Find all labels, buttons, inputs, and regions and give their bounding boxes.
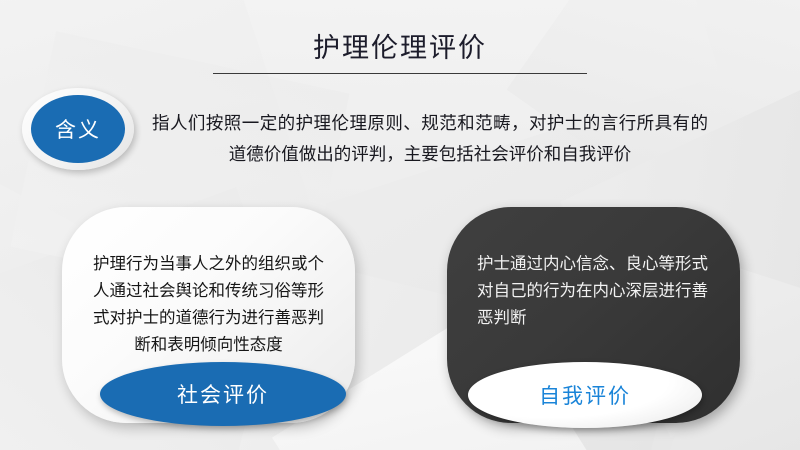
- definition-text: 指人们按照一定的护理伦理原则、规范和范畴，对护士的言行所具有的道德价值做出的评判…: [152, 108, 708, 170]
- slide-canvas: 护理伦理评价 含义 指人们按照一定的护理伦理原则、规范和范畴，对护士的言行所具有…: [0, 0, 800, 450]
- definition-badge: 含义: [22, 88, 134, 170]
- label-social-evaluation: 社会评价: [100, 362, 346, 426]
- title-divider: [213, 73, 587, 74]
- card-self-evaluation-text: 护士通过内心信念、良心等形式对自己的行为在内心深层进行善恶判断: [471, 251, 716, 332]
- label-self-evaluation: 自我评价: [468, 362, 702, 428]
- card-social-evaluation-text: 护理行为当事人之外的组织或个人通过社会舆论和传统习俗等形式对护士的道德行为进行善…: [86, 251, 331, 359]
- badge-label: 含义: [31, 95, 125, 163]
- slide-title: 护理伦理评价: [0, 26, 800, 65]
